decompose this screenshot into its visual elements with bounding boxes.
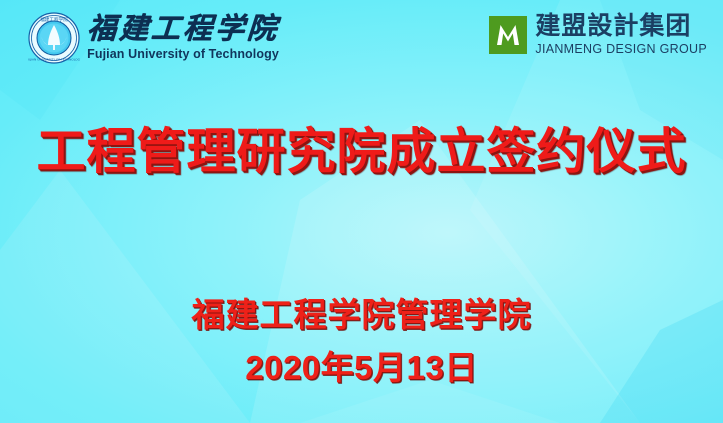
event-date: 2020年5月13日 (0, 341, 723, 389)
presentation-slide: 福建工程学院 FUJIAN UNIVERSITY OF TECHNOLOGY 福… (0, 0, 723, 423)
company-name-block: 建盟設計集团 JIANMENG DESIGN GROUP (535, 14, 707, 56)
svg-text:福建工程学院: 福建工程学院 (40, 16, 68, 23)
slide-title: 工程管理研究院成立签约仪式 (0, 112, 723, 183)
organization-name: 福建工程学院管理学院 (0, 288, 723, 336)
university-name-block: 福建工程学院 Fujian University of Technology (87, 15, 279, 61)
logo-bar: 福建工程学院 FUJIAN UNIVERSITY OF TECHNOLOGY 福… (0, 0, 723, 84)
university-name-cn: 福建工程学院 (86, 15, 280, 44)
company-name-en: JIANMENG DESIGN GROUP (535, 43, 707, 56)
university-seal-icon: 福建工程学院 FUJIAN UNIVERSITY OF TECHNOLOGY (28, 12, 80, 64)
jianmeng-m-icon (489, 16, 527, 54)
university-name-en: Fujian University of Technology (87, 48, 279, 61)
company-name-cn: 建盟設計集团 (535, 14, 707, 39)
svg-text:FUJIAN UNIVERSITY OF TECHNOLOG: FUJIAN UNIVERSITY OF TECHNOLOGY (28, 58, 80, 62)
university-logo: 福建工程学院 FUJIAN UNIVERSITY OF TECHNOLOGY 福… (28, 12, 279, 64)
company-logo: 建盟設計集团 JIANMENG DESIGN GROUP (489, 14, 707, 56)
